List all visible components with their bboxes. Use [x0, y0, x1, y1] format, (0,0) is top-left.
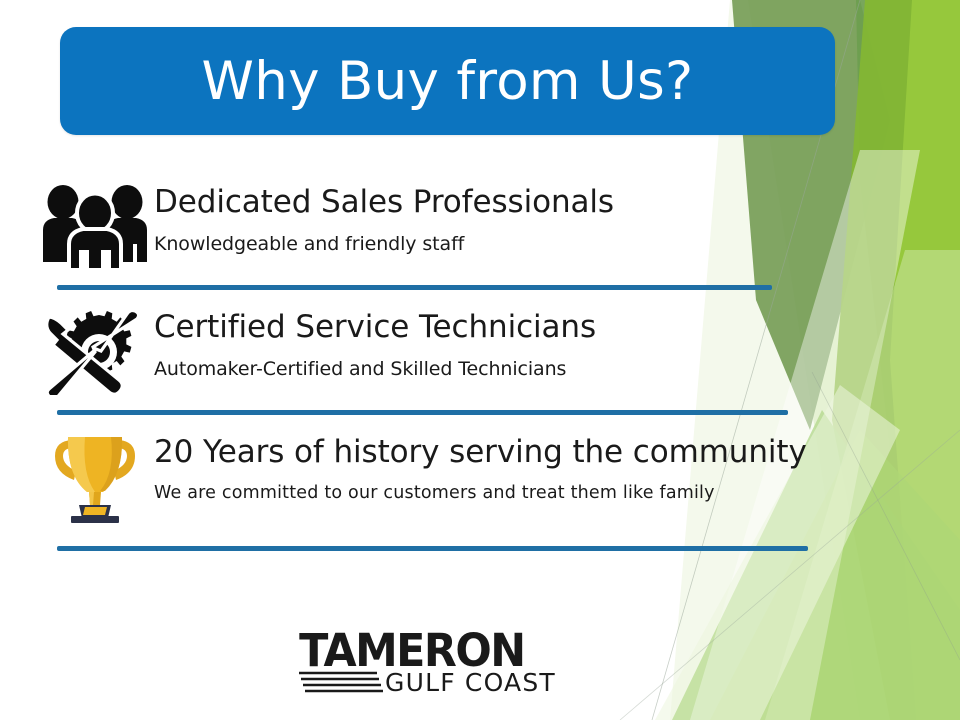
tameron-gulf-coast-logo: TAMERON GULF COAST [293, 627, 563, 697]
slide-title-banner: Why Buy from Us? [60, 27, 835, 135]
group-of-people-icon [36, 180, 154, 272]
feature-row: Dedicated Sales Professionals Knowledgea… [36, 180, 614, 272]
feature-row: Certified Service Technicians Automaker-… [36, 305, 596, 397]
section-divider [57, 546, 808, 551]
page-title: Why Buy from Us? [202, 55, 694, 108]
feature-text-block: Certified Service Technicians Automaker-… [154, 305, 596, 380]
feature-title: Certified Service Technicians [154, 311, 596, 344]
wrench-gear-screwdriver-icon [36, 305, 154, 397]
section-divider [57, 410, 788, 415]
feature-text-block: Dedicated Sales Professionals Knowledgea… [154, 180, 614, 255]
section-divider [57, 285, 772, 290]
feature-title: 20 Years of history serving the communit… [154, 436, 807, 469]
feature-subtitle: Knowledgeable and friendly staff [154, 233, 614, 255]
trophy-icon [36, 430, 154, 522]
feature-row: 20 Years of history serving the communit… [36, 430, 807, 522]
feature-subtitle: Automaker-Certified and Skilled Technici… [154, 358, 596, 380]
feature-subtitle: We are committed to our customers and tr… [154, 483, 807, 503]
feature-text-block: 20 Years of history serving the communit… [154, 430, 807, 503]
slide-canvas: Why Buy from Us? Dedicated Sales Profe [0, 0, 960, 720]
feature-title: Dedicated Sales Professionals [154, 186, 614, 219]
logo-tagline: GULF COAST [385, 668, 556, 697]
